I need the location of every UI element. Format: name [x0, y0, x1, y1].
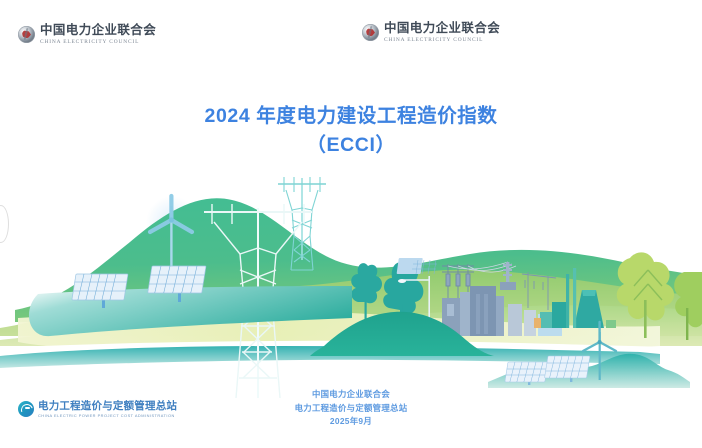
header-logo-left: 中国电力企业联合会 CHINA ELECTRICITY COUNCIL — [18, 24, 156, 45]
header-logo-center-name-en: CHINA ELECTRICITY COUNCIL — [384, 38, 500, 43]
header-logo-center-text: 中国电力企业联合会 CHINA ELECTRICITY COUNCIL — [384, 22, 500, 43]
header-logo-left-name-en: CHINA ELECTRICITY COUNCIL — [40, 40, 156, 45]
credit-line-3: 2025年9月 — [0, 415, 702, 429]
cover-illustration — [0, 150, 702, 400]
credit-block: 中国电力企业联合会 电力工程造价与定额管理总站 2025年9月 — [0, 388, 702, 429]
green-power-landscape-svg — [0, 150, 702, 400]
credit-line-1: 中国电力企业联合会 — [0, 388, 702, 402]
presentation-cover-page: 中国电力企业联合会 CHINA ELECTRICITY COUNCIL 中国电力… — [0, 0, 702, 448]
header-logo-center: 中国电力企业联合会 CHINA ELECTRICITY COUNCIL — [362, 22, 500, 43]
header-logo-left-text: 中国电力企业联合会 CHINA ELECTRICITY COUNCIL — [40, 24, 156, 45]
header-logo-center-name-cn: 中国电力企业联合会 — [384, 22, 500, 35]
header-logo-left-name-cn: 中国电力企业联合会 — [40, 24, 156, 37]
cec-emblem-icon — [362, 24, 379, 41]
page-title-line-1: 2024 年度电力建设工程造价指数 — [0, 102, 702, 131]
credit-line-2: 电力工程造价与定额管理总站 — [0, 402, 702, 416]
cec-emblem-icon — [18, 26, 35, 43]
